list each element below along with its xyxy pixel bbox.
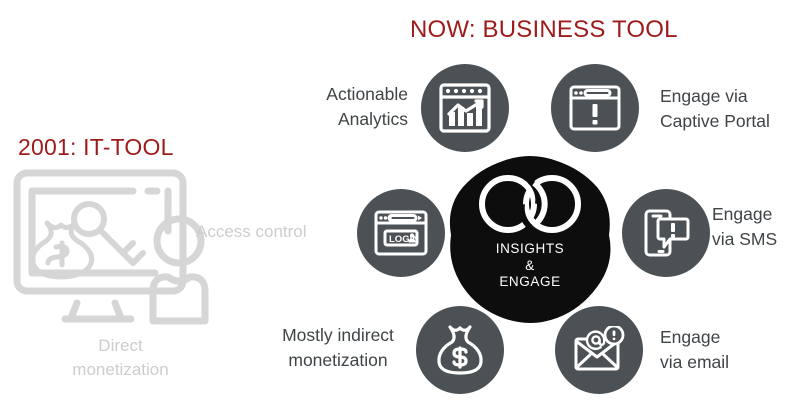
- direct-monetization-label: Direct monetization: [38, 334, 203, 382]
- node-sms[interactable]: [622, 189, 710, 277]
- login-window-icon: LOGIN: [373, 209, 429, 257]
- legacy-title: 2001: IT-TOOL: [18, 134, 174, 161]
- node-analytics-label: Actionable Analytics: [288, 82, 408, 132]
- monitor-icon: [5, 163, 235, 328]
- key-icon: [74, 204, 143, 263]
- modern-title: NOW: BUSINESS TOOL: [410, 16, 678, 44]
- node-email-label: Engage via email: [660, 325, 790, 375]
- money-bag-icon: [435, 323, 485, 377]
- node-monetization-label: Mostly indirect monetization: [262, 323, 414, 373]
- infographic-canvas: 2001: IT-TOOL: [0, 0, 800, 413]
- node-captive-portal-label: Engage via Captive Portal: [660, 84, 800, 134]
- node-monetization[interactable]: [416, 306, 504, 394]
- access-control-label: Access control: [196, 220, 346, 244]
- interlocking-rings-icon: [470, 173, 590, 235]
- node-sms-label: Engage via SMS: [712, 202, 800, 252]
- phone-message-alert-icon: [640, 207, 692, 259]
- legacy-illustration: [5, 163, 235, 328]
- browser-alert-icon: [568, 84, 622, 132]
- analytics-chart-window-icon: [438, 82, 492, 134]
- svg-text:LOGIN: LOGIN: [389, 234, 419, 245]
- node-email[interactable]: [555, 306, 643, 394]
- insights-engage-hub: INSIGHTS & ENGAGE: [445, 155, 615, 325]
- envelope-at-alert-icon: [572, 326, 626, 374]
- node-login[interactable]: LOGIN: [357, 189, 445, 277]
- node-analytics[interactable]: [421, 64, 509, 152]
- hub-label: INSIGHTS & ENGAGE: [445, 241, 615, 291]
- node-captive-portal[interactable]: [551, 64, 639, 152]
